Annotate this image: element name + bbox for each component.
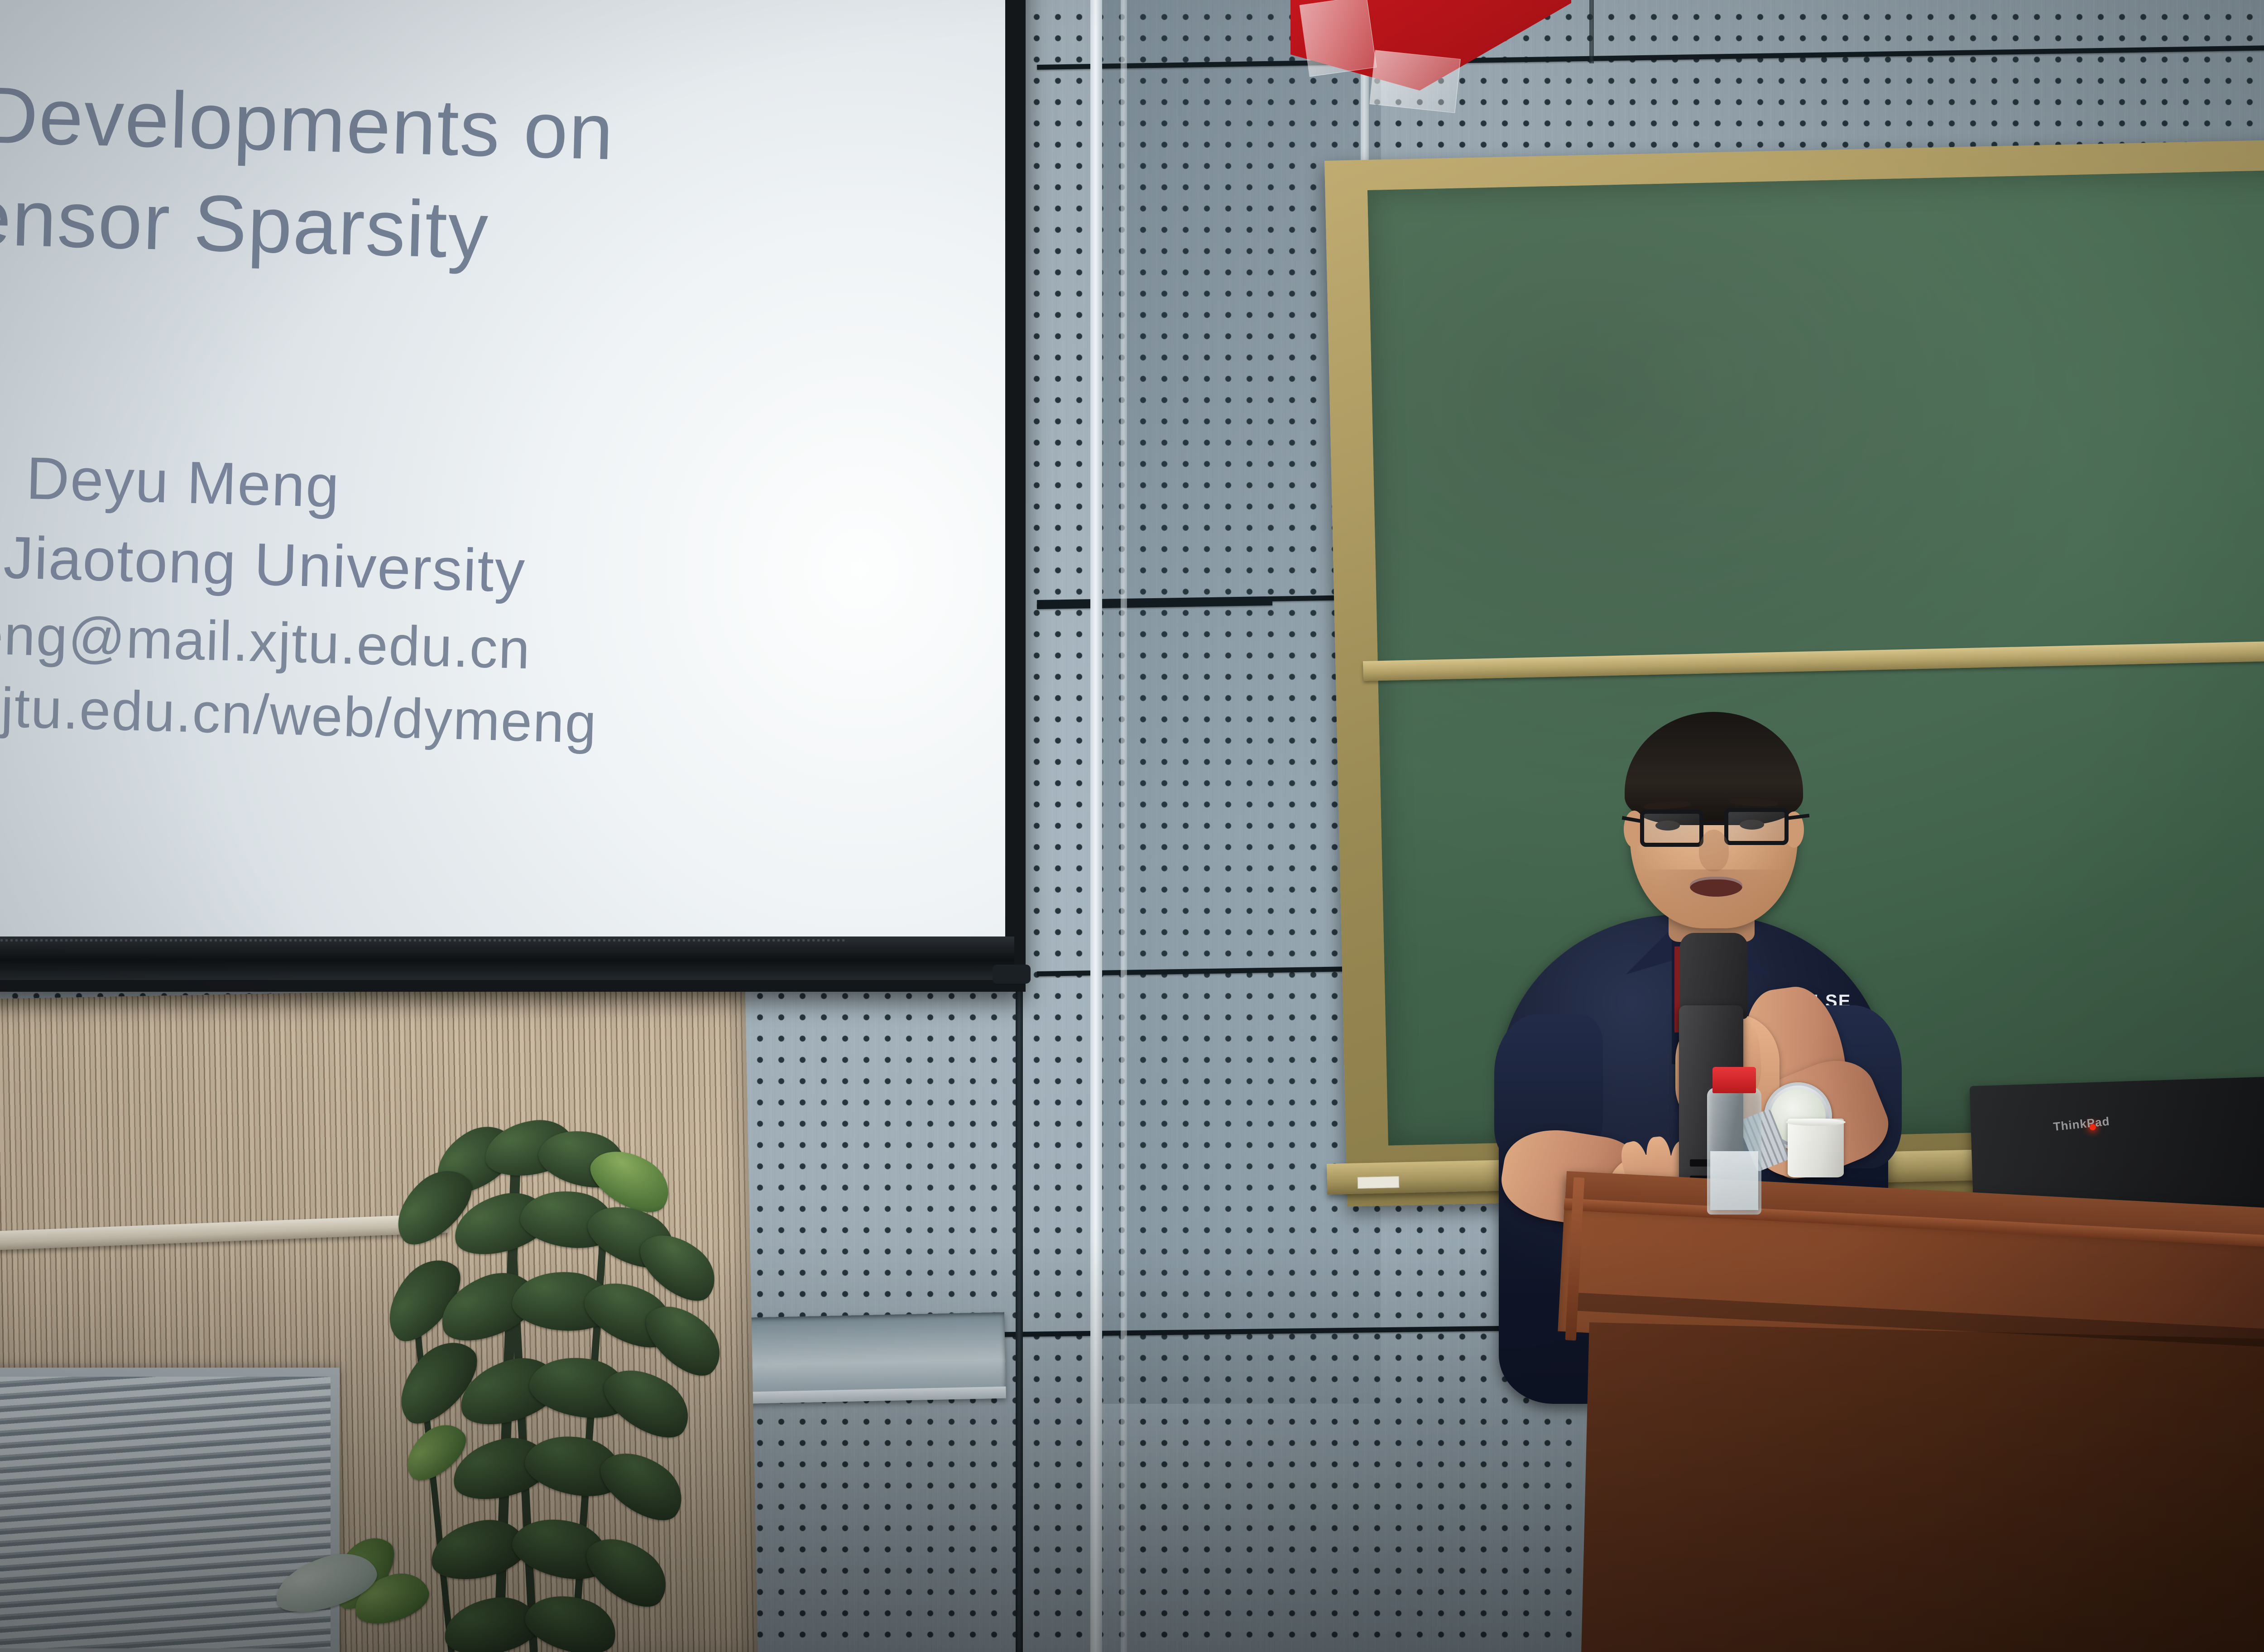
glasses-lens-right <box>1724 808 1789 845</box>
slide-title-line-2: ensor Sparsity <box>0 165 490 283</box>
wall-mullion-dark <box>1589 0 1594 63</box>
cup-rim <box>1786 1119 1845 1126</box>
podium-base <box>1581 1322 2264 1652</box>
bottle-cap[interactable] <box>1712 1067 1756 1093</box>
chalkboard-tray-label <box>1357 1176 1400 1189</box>
slide-title-line-1: Developments on <box>0 63 615 184</box>
potted-schefflera-plant <box>335 1141 724 1652</box>
speaker-mouth <box>1690 877 1742 897</box>
lecture-hall-photograph: Developments on ensor Sparsity Deyu Meng… <box>0 0 2264 1652</box>
wall-mullion <box>1121 0 1127 1652</box>
projection-screen-weight-bar <box>0 936 1014 980</box>
bottle-label <box>1710 1151 1758 1210</box>
paper-cup[interactable] <box>1788 1119 1844 1177</box>
water-bottle[interactable] <box>1707 1088 1761 1215</box>
glasses-bridge <box>1703 821 1726 824</box>
glasses-temple-right <box>1786 814 1810 820</box>
slide-affiliation: Jiaotong University <box>3 523 527 605</box>
adhesive-tape <box>1300 0 1377 77</box>
speaker-nose <box>1699 830 1729 871</box>
thinkpad-logo: ThinkPad <box>2053 1114 2111 1134</box>
glasses-lens-left <box>1640 810 1703 847</box>
slide-author: Deyu Meng <box>25 444 341 521</box>
adhesive-tape <box>1369 50 1461 113</box>
wall-mullion <box>1090 0 1102 1652</box>
projection-screen-nub <box>993 965 1031 984</box>
